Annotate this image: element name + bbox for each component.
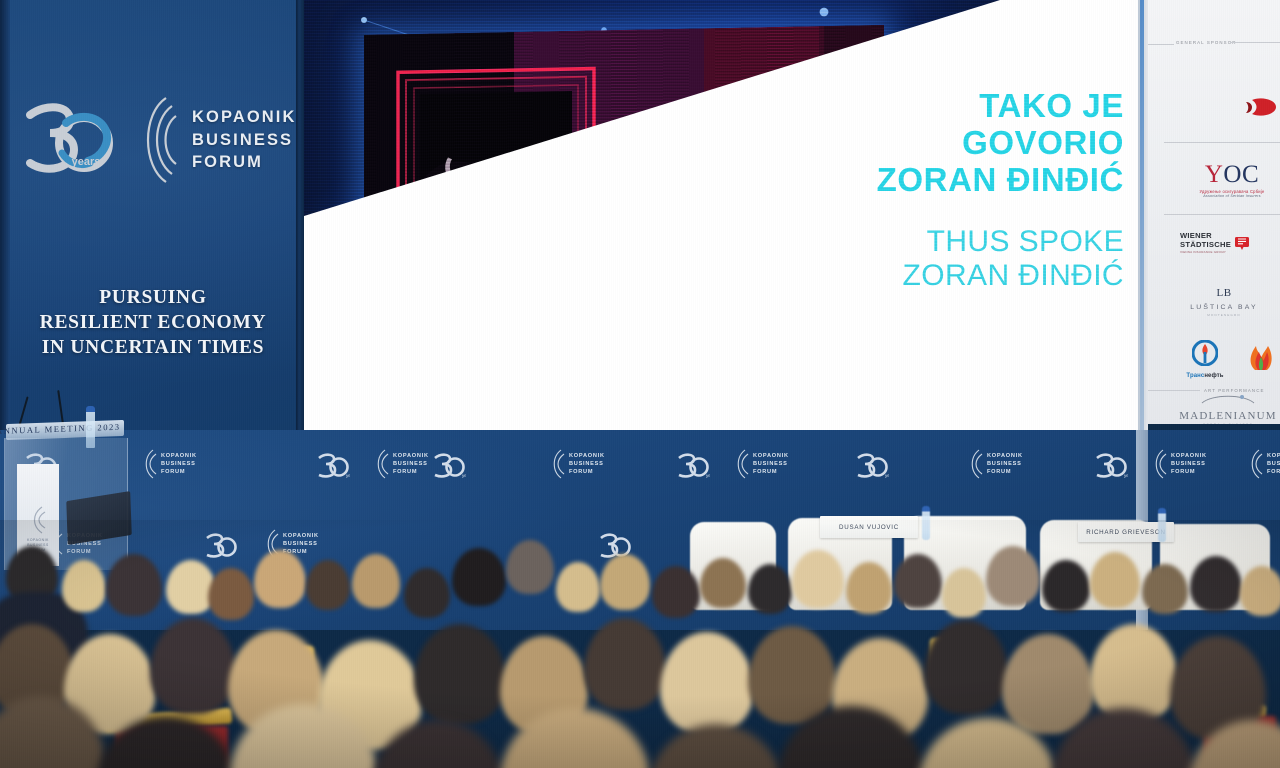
general-sponsor-logo [1232,96,1278,123]
yoc-wordmark: YOC [1186,162,1278,187]
transneft-word-part1: Транс [1186,373,1204,379]
svg-text:years: years [346,473,350,478]
audience-head [986,546,1040,606]
repeat-label: KOPAONIK BUSINESS FORUM [753,452,789,476]
audience-head [846,562,892,614]
audience-head [1002,634,1094,734]
slide-headline-serbian: TAKO JE GOVORIO ZORAN ĐINĐIĆ [704,88,1124,199]
repeat-arcs-icon [374,448,389,480]
repeat-label: KOPAONIK BUSINESS FORUM [1171,452,1207,476]
lustica-monogram: LB [1174,288,1274,299]
transneft-icon [1192,340,1218,366]
audience-head [1142,564,1188,614]
audience-head [600,554,650,610]
svg-text:years: years [885,473,889,478]
svg-text:years: years [706,473,710,478]
sponsor-rule-1b [1148,44,1174,45]
audience-head [792,550,844,608]
sponsor-logo-transneft: Транснефть [1174,340,1236,379]
svg-text:years: years [462,473,466,478]
repeat-wordmark: KOPAONIK BUSINESS FORUM [1152,448,1207,480]
repeat-label: KOPAONIK BUSINESS FORUM [569,452,605,476]
repeat-arcs-icon [1248,448,1263,480]
years-label: years [72,156,101,168]
sponsor-section-caption-general: GENERAL SPONSOR [1176,40,1237,45]
sponsor-board: GENERAL SPONSOR YOC Удружење осигуравача… [1148,0,1280,424]
wiener-subtitle: VIENNA INSURANCE GROUP [1180,250,1231,254]
audience-head [556,562,600,612]
audience-head [506,540,554,594]
svg-text:years: years [1124,473,1128,478]
repeat-badge-30: years [676,452,710,480]
sponsor-rule-3 [1164,214,1280,215]
sponsor-logo-wiener-stadtische: WIENER STÄDTISCHE VIENNA INSURANCE GROUP [1180,232,1266,254]
sponsor-logo-madlenianum: MADLENIANUM OPERA & THEATRE [1178,392,1278,424]
yoc-subtitle-english: Association of Serbian Insurers [1186,194,1278,198]
audience-head [452,548,506,606]
repeat-wordmark: KOPAONIK BUSINESS FORUM [550,448,605,480]
wall-panel-seam [296,0,304,438]
audience-head [1042,560,1090,612]
thirty-years-icon: years [22,101,118,179]
repeat-badge-30: years [855,452,889,480]
forum-branding: years KOPAONIK BUSINESS FORUM [22,92,284,188]
led-presentation-screen: Зоран Ђинђић 01.08.1952 - 12.03.2003 TAK… [304,0,1140,436]
repeat-badge-30: years [316,452,350,480]
repeat-arcs-icon [734,448,749,480]
repeat-arcs-icon [968,448,983,480]
event-tagline: PURSUING RESILIENT ECONOMY IN UNCERTAIN … [24,286,282,361]
transneft-wordmark: Транснефть [1174,373,1236,379]
audience-head [150,618,236,714]
audience-head [924,620,1008,714]
audience-head [62,560,106,612]
repeat-label: KOPAONIK BUSINESS FORUM [161,452,197,476]
audience-head [404,568,450,618]
audience-head [660,632,754,734]
repeat-wordmark: KOPAONIK BUSINESS FORUM [968,448,1023,480]
repeat-wordmark: KOPAONIK BUSINESS FORUM [1248,448,1280,480]
repeat-label: KOPAONIK BUSINESS FORUM [393,452,429,476]
audience-head [106,554,162,616]
repeat-label: KOPAONIK BUSINESS FORUM [1267,452,1280,476]
audience-head [894,554,942,608]
wall-gap-blue-edge [1140,0,1144,430]
repeat-badge-30: years [432,452,466,480]
audience-head [254,550,306,608]
madlenianum-subtitle: OPERA & THEATRE [1178,423,1278,424]
audience-head [748,564,792,614]
sponsor-rule-1 [1230,42,1280,43]
sponsor-logo-yoc: YOC Удружење осигуравача Србије Associat… [1186,162,1278,198]
slide-headline-english: THUS SPOKE ZORAN ĐINĐIĆ [704,225,1124,293]
repeat-label: KOPAONIK BUSINESS FORUM [987,452,1023,476]
sponsor-rule-4 [1148,390,1200,391]
forum-wordmark: KOPAONIK BUSINESS FORUM [192,106,297,173]
repeat-arcs-icon [1152,448,1167,480]
audience-head [352,554,400,608]
audience-head [1090,624,1178,722]
repeat-wordmark: KOPAONIK BUSINESS FORUM [734,448,789,480]
transneft-word-part2: нефть [1204,373,1223,379]
audience-head [1240,566,1280,616]
repeat-arcs-icon [142,448,157,480]
audience-head [208,568,254,620]
audience-head [1190,556,1242,612]
forum-arcs-icon [132,92,178,188]
audience-head [942,568,986,618]
audience-head [1090,552,1140,608]
audience-head [648,724,784,768]
sponsor-logo-flame [1244,344,1278,375]
thirty-years-logo: years [22,101,118,179]
wiener-shield-icon [1235,237,1249,250]
madlenianum-ornament-icon [1198,393,1258,405]
audience-head [414,624,506,724]
audience-head [584,618,666,710]
audience [0,520,1280,768]
audience-head [700,558,746,608]
lustica-subtitle: MONTENEGRO [1174,313,1274,317]
slide-headline-group: TAKO JE GOVORIO ZORAN ĐINĐIĆ THUS SPOKE … [704,88,1124,293]
repeat-wordmark: KOPAONIK BUSINESS FORUM [374,448,429,480]
wiener-wordmark: WIENER STÄDTISCHE [1180,232,1231,249]
forum-logo-lockup: years KOPAONIK BUSINESS FORUM [22,92,284,188]
audience-head [306,560,350,610]
flame-icon [1246,344,1276,370]
sponsor-rule-2 [1164,142,1280,143]
general-sponsor-icon [1232,96,1278,118]
repeat-wordmark: KOPAONIK BUSINESS FORUM [142,448,197,480]
madlenianum-wordmark: MADLENIANUM [1178,410,1278,422]
repeat-arcs-icon [550,448,565,480]
conference-hall-photo: years KOPAONIK BUSINESS FORUM PURSUING R… [0,0,1280,768]
audience-head [748,626,836,724]
sponsor-logo-lustica-bay: LB LUŠTICA BAY MONTENEGRO [1174,288,1274,317]
lustica-wordmark: LUŠTICA BAY [1174,304,1274,311]
repeat-badge-30: years [1094,452,1128,480]
audience-head [652,566,700,618]
